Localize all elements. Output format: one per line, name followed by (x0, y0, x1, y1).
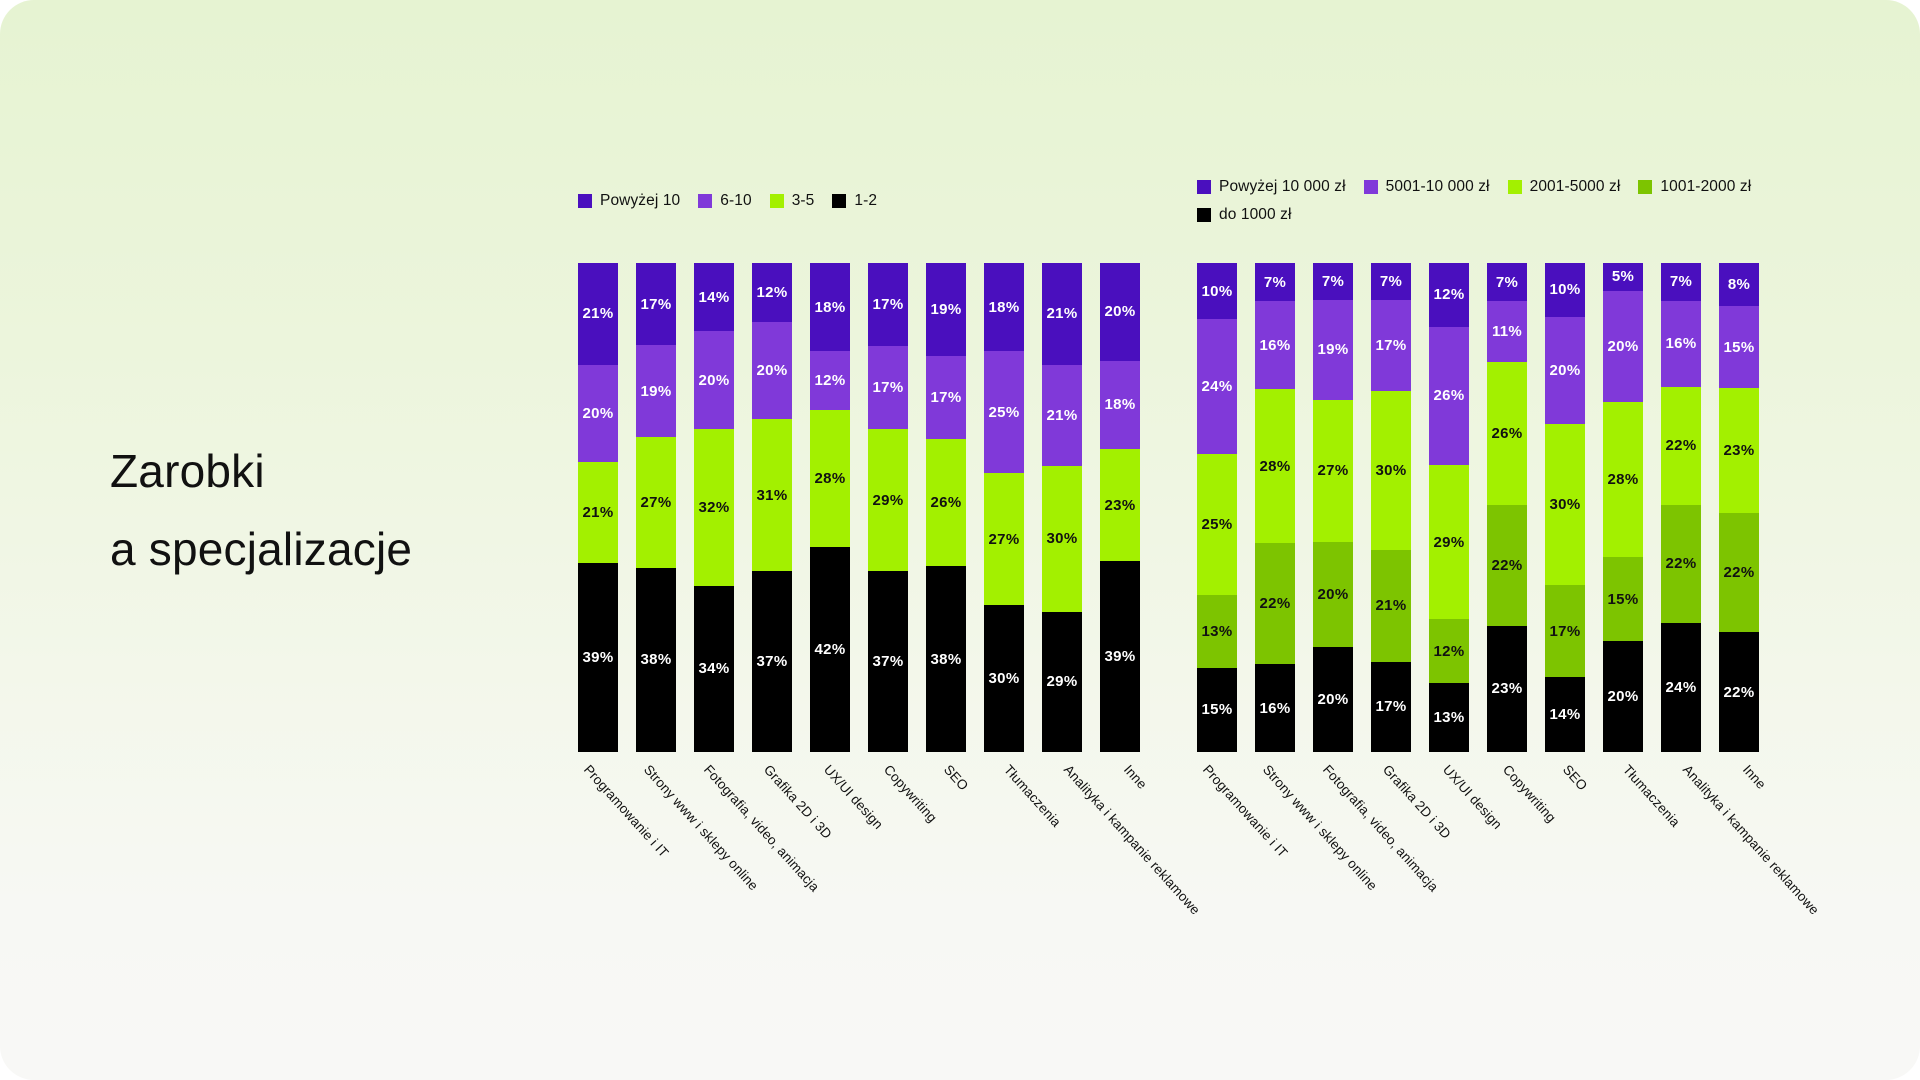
bar-segment[interactable]: 10% (1197, 263, 1237, 319)
bar-segment[interactable]: 7% (1371, 263, 1411, 300)
earnings-bar-column[interactable]: 7%17%30%21%17% (1371, 263, 1411, 752)
bar-segment-value-label: 13% (1202, 624, 1233, 639)
bar-segment-value-label: 7% (1670, 274, 1692, 289)
bar-segment[interactable]: 30% (1545, 424, 1585, 585)
legend-swatch-icon (770, 194, 784, 208)
bar-segment[interactable]: 12% (1429, 619, 1469, 683)
bar-segment-value-label: 11% (1492, 324, 1522, 339)
bar-segment[interactable]: 13% (1429, 683, 1469, 752)
bar-segment-value-label: 18% (815, 300, 846, 315)
bar-segment-value-label: 24% (1202, 379, 1233, 394)
earnings-bar-column[interactable]: 12%26%29%12%13% (1429, 263, 1469, 752)
earnings-legend-item[interactable]: 5001-10 000 zł (1364, 178, 1490, 196)
legend-swatch-icon (1364, 180, 1378, 194)
bar-segment[interactable]: 38% (636, 568, 676, 752)
bar-segment-value-label: 17% (1376, 699, 1407, 714)
bar-segment[interactable]: 20% (578, 365, 618, 462)
bar-segment[interactable]: 28% (1603, 402, 1643, 558)
bar-segment[interactable]: 20% (1100, 263, 1140, 361)
legend-label: 3-5 (792, 192, 815, 210)
bar-segment-value-label: 25% (1202, 517, 1233, 532)
bar-stack: 18%25%27%30% (984, 263, 1024, 752)
bar-segment[interactable]: 29% (868, 429, 908, 571)
bar-segment-value-label: 20% (1608, 689, 1639, 704)
earnings-category-label: Fotografia, video, animacja (1320, 762, 1441, 895)
experience-bar-column[interactable]: 21%21%30%29% (1042, 263, 1082, 752)
earnings-bar-column[interactable]: 8%15%23%22%22% (1719, 263, 1759, 752)
chart-earnings-category-axis: Programowanie i ITStrony www i sklepy on… (1197, 762, 1759, 992)
bar-segment[interactable]: 16% (1661, 301, 1701, 387)
bar-segment-value-label: 29% (1047, 674, 1078, 689)
bar-segment[interactable]: 19% (926, 263, 966, 356)
legend-swatch-icon (1508, 180, 1522, 194)
experience-bar-column[interactable]: 12%20%31%37% (752, 263, 792, 752)
bar-segment[interactable]: 17% (1371, 662, 1411, 752)
bar-segment-value-label: 22% (1724, 685, 1755, 700)
legend-label: 2001-5000 zł (1530, 178, 1621, 196)
bar-segment[interactable]: 24% (1197, 319, 1237, 454)
legend-label: 6-10 (720, 192, 751, 210)
bar-segment-value-label: 15% (1724, 340, 1755, 355)
chart-experience-category-axis: Programowanie i ITStrony www i sklepy on… (578, 762, 1140, 992)
bar-segment-value-label: 26% (931, 495, 962, 510)
bar-segment[interactable]: 13% (1197, 595, 1237, 668)
bar-segment[interactable]: 20% (694, 331, 734, 429)
bar-segment[interactable]: 38% (926, 566, 966, 752)
earnings-legend-item[interactable]: do 1000 zł (1197, 206, 1292, 224)
bar-segment[interactable]: 22% (1661, 505, 1701, 623)
legend-label: Powyżej 10 (600, 192, 680, 210)
bar-stack: 17%19%27%38% (636, 263, 676, 752)
bar-segment-value-label: 17% (641, 297, 672, 312)
chart-experience-plot: 21%20%21%39%17%19%27%38%14%20%32%34%12%2… (578, 263, 1140, 752)
experience-legend-item[interactable]: 1-2 (832, 192, 877, 210)
bar-segment-value-label: 20% (1318, 587, 1349, 602)
bar-segment[interactable]: 12% (1429, 263, 1469, 327)
earnings-legend-item[interactable]: 1001-2000 zł (1638, 178, 1751, 196)
bar-segment[interactable]: 5% (1603, 263, 1643, 291)
earnings-category-label: SEO (1560, 762, 1590, 793)
bar-segment-value-label: 23% (1724, 443, 1755, 458)
bar-segment-value-label: 12% (757, 285, 788, 300)
bar-segment-value-label: 31% (757, 488, 788, 503)
earnings-category-label: Copywriting (1500, 762, 1559, 825)
bar-segment[interactable]: 28% (1255, 389, 1295, 543)
bar-segment-value-label: 16% (1666, 336, 1697, 351)
bar-segment-value-label: 22% (1666, 438, 1697, 453)
bar-segment[interactable]: 21% (1371, 550, 1411, 662)
bar-stack: 7%17%30%21%17% (1371, 263, 1411, 752)
bar-stack: 14%20%32%34% (694, 263, 734, 752)
bar-segment-value-label: 21% (1376, 598, 1407, 613)
bar-segment[interactable]: 11% (1487, 301, 1527, 361)
bar-segment-value-label: 30% (989, 671, 1020, 686)
bar-segment-value-label: 22% (1666, 556, 1697, 571)
bar-segment-value-label: 12% (1434, 644, 1465, 659)
bar-segment[interactable]: 12% (752, 263, 792, 322)
bar-stack: 18%12%28%42% (810, 263, 850, 752)
bar-stack: 12%26%29%12%13% (1429, 263, 1469, 752)
bar-stack: 7%11%26%22%23% (1487, 263, 1527, 752)
experience-legend-item[interactable]: 3-5 (770, 192, 815, 210)
bar-segment[interactable]: 12% (810, 351, 850, 410)
bar-segment-value-label: 28% (1260, 459, 1291, 474)
bar-stack: 21%21%30%29% (1042, 263, 1082, 752)
experience-category-label: Tłumaczenia (1001, 762, 1064, 830)
bar-segment[interactable]: 23% (1100, 449, 1140, 561)
bar-stack: 7%19%27%20%20% (1313, 263, 1353, 752)
experience-category-label: SEO (941, 762, 971, 793)
bar-segment[interactable]: 20% (1545, 317, 1585, 424)
bar-segment-value-label: 18% (989, 300, 1020, 315)
bar-stack: 10%24%25%13%15% (1197, 263, 1237, 752)
bar-segment-value-label: 39% (1105, 649, 1136, 664)
bar-segment-value-label: 20% (1318, 692, 1349, 707)
bar-segment[interactable]: 23% (1487, 626, 1527, 752)
bar-segment[interactable]: 20% (1313, 542, 1353, 647)
bar-segment[interactable]: 7% (1661, 263, 1701, 301)
bar-segment[interactable]: 30% (1042, 466, 1082, 611)
bar-segment[interactable]: 18% (984, 263, 1024, 351)
experience-bar-column[interactable]: 18%12%28%42% (810, 263, 850, 752)
earnings-category-label: UX/UI design (1440, 762, 1505, 832)
bar-segment[interactable]: 30% (984, 605, 1024, 752)
earnings-bar-column[interactable]: 7%11%26%22%23% (1487, 263, 1527, 752)
earnings-category-label: Inne (1740, 762, 1769, 792)
bar-segment[interactable]: 21% (1042, 365, 1082, 467)
bar-segment-value-label: 25% (989, 405, 1020, 420)
bar-segment[interactable]: 20% (1603, 641, 1643, 752)
bar-stack: 5%20%28%15%20% (1603, 263, 1643, 752)
bar-segment-value-label: 27% (641, 495, 672, 510)
bar-segment-value-label: 32% (699, 500, 730, 515)
bar-segment[interactable]: 16% (1255, 664, 1295, 752)
bar-segment[interactable]: 18% (810, 263, 850, 351)
bar-segment[interactable]: 37% (752, 571, 792, 752)
bar-segment[interactable]: 20% (752, 322, 792, 420)
earnings-bar-column[interactable]: 10%24%25%13%15% (1197, 263, 1237, 752)
earnings-legend-item[interactable]: Powyżej 10 000 zł (1197, 178, 1346, 196)
experience-bar-column[interactable]: 17%19%27%38% (636, 263, 676, 752)
bar-segment[interactable]: 37% (868, 571, 908, 752)
bar-segment[interactable]: 19% (1313, 300, 1353, 400)
experience-legend-item[interactable]: Powyżej 10 (578, 192, 680, 210)
bar-segment-value-label: 26% (1434, 388, 1465, 403)
experience-bar-column[interactable]: 14%20%32%34% (694, 263, 734, 752)
bar-segment-value-label: 18% (1105, 397, 1136, 412)
bar-segment-value-label: 28% (1608, 472, 1639, 487)
bar-segment-value-label: 17% (873, 297, 904, 312)
bar-stack: 19%17%26%38% (926, 263, 966, 752)
bar-stack: 10%20%30%17%14% (1545, 263, 1585, 752)
bar-segment-value-label: 20% (583, 406, 614, 421)
bar-segment[interactable]: 21% (578, 462, 618, 564)
bar-segment[interactable]: 22% (1719, 513, 1759, 633)
bar-segment-value-label: 19% (931, 302, 962, 317)
bar-segment[interactable]: 17% (926, 356, 966, 439)
bar-segment-value-label: 29% (873, 493, 904, 508)
earnings-bar-column[interactable]: 10%20%30%17%14% (1545, 263, 1585, 752)
bar-segment-value-label: 37% (873, 654, 904, 669)
bar-segment-value-label: 8% (1728, 277, 1750, 292)
bar-segment[interactable]: 42% (810, 547, 850, 752)
bar-segment[interactable]: 21% (1042, 263, 1082, 365)
bar-segment[interactable]: 26% (926, 439, 966, 566)
bar-segment[interactable]: 25% (984, 351, 1024, 473)
bar-segment[interactable]: 27% (636, 437, 676, 568)
page-title: Zarobki a specjalizacje (110, 432, 540, 588)
bar-segment[interactable]: 10% (1545, 263, 1585, 317)
bar-segment-value-label: 21% (583, 505, 614, 520)
bar-segment[interactable]: 15% (1719, 306, 1759, 387)
earnings-bar-column[interactable]: 7%16%28%22%16% (1255, 263, 1295, 752)
experience-bar-column[interactable]: 20%18%23%39% (1100, 263, 1140, 752)
earnings-bar-column[interactable]: 7%16%22%22%24% (1661, 263, 1701, 752)
experience-category-label: UX/UI design (821, 762, 886, 832)
bar-segment[interactable]: 22% (1719, 632, 1759, 752)
bar-segment-value-label: 16% (1260, 338, 1291, 353)
bar-segment-value-label: 27% (1318, 463, 1349, 478)
experience-bar-column[interactable]: 21%20%21%39% (578, 263, 618, 752)
bar-segment-value-label: 17% (931, 390, 962, 405)
bar-segment-value-label: 30% (1047, 531, 1078, 546)
earnings-bar-column[interactable]: 7%19%27%20%20% (1313, 263, 1353, 752)
bar-segment[interactable]: 32% (694, 429, 734, 585)
legend-swatch-icon (1197, 208, 1211, 222)
bar-segment[interactable]: 27% (1313, 400, 1353, 542)
bar-segment-value-label: 17% (1376, 338, 1407, 353)
bar-segment[interactable]: 26% (1429, 327, 1469, 465)
bar-stack: 7%16%22%22%24% (1661, 263, 1701, 752)
legend-label: Powyżej 10 000 zł (1219, 178, 1346, 196)
legend-label: 5001-10 000 zł (1386, 178, 1490, 196)
bar-stack: 7%16%28%22%16% (1255, 263, 1295, 752)
bar-segment[interactable]: 14% (694, 263, 734, 331)
legend-earnings: Powyżej 10 000 zł5001-10 000 zł2001-5000… (1197, 178, 1797, 234)
bar-segment-value-label: 14% (699, 290, 730, 305)
legend-swatch-icon (1638, 180, 1652, 194)
bar-stack: 12%20%31%37% (752, 263, 792, 752)
bar-segment-value-label: 20% (757, 363, 788, 378)
bar-segment[interactable]: 19% (636, 345, 676, 437)
legend-swatch-icon (832, 194, 846, 208)
bar-stack: 8%15%23%22%22% (1719, 263, 1759, 752)
bar-segment-value-label: 22% (1492, 558, 1523, 573)
experience-bar-column[interactable]: 17%17%29%37% (868, 263, 908, 752)
experience-bar-column[interactable]: 18%25%27%30% (984, 263, 1024, 752)
bar-segment-value-label: 21% (583, 306, 614, 321)
bar-segment[interactable]: 16% (1255, 301, 1295, 389)
legend-swatch-icon (1197, 180, 1211, 194)
bar-segment-value-label: 24% (1666, 680, 1697, 695)
bar-segment-value-label: 15% (1608, 592, 1639, 607)
experience-category-label: Fotografia, video, animacja (701, 762, 822, 895)
bar-segment-value-label: 22% (1260, 596, 1291, 611)
bar-segment[interactable]: 31% (752, 419, 792, 571)
bar-segment[interactable]: 17% (1371, 300, 1411, 390)
bar-stack: 17%17%29%37% (868, 263, 908, 752)
legend-label: 1-2 (854, 192, 877, 210)
bar-segment-value-label: 19% (1318, 342, 1349, 357)
bar-segment-value-label: 26% (1492, 426, 1523, 441)
bar-segment-value-label: 23% (1492, 681, 1523, 696)
experience-category-label: Strony www i sklepy online (641, 762, 761, 893)
bar-segment[interactable]: 15% (1603, 557, 1643, 640)
bar-segment[interactable]: 20% (1313, 647, 1353, 752)
bar-segment[interactable]: 7% (1487, 263, 1527, 301)
bar-segment[interactable]: 24% (1661, 623, 1701, 752)
experience-bar-column[interactable]: 19%17%26%38% (926, 263, 966, 752)
legend-experience: Powyżej 106-103-51-2 (578, 192, 998, 220)
experience-category-label: Copywriting (881, 762, 940, 825)
bar-segment[interactable]: 39% (578, 563, 618, 752)
bar-segment-value-label: 34% (699, 661, 730, 676)
bar-segment-value-label: 20% (1105, 304, 1136, 319)
bar-stack: 21%20%21%39% (578, 263, 618, 752)
bar-segment-value-label: 38% (641, 652, 672, 667)
bar-segment-value-label: 21% (1047, 306, 1078, 321)
earnings-category-label: Strony www i sklepy online (1260, 762, 1380, 893)
bar-segment-value-label: 14% (1550, 707, 1581, 722)
bar-stack: 20%18%23%39% (1100, 263, 1140, 752)
page-title-line-2: a specjalizacje (110, 510, 540, 588)
bar-segment[interactable]: 20% (1603, 291, 1643, 402)
bar-segment[interactable]: 28% (810, 410, 850, 547)
bar-segment-value-label: 39% (583, 650, 614, 665)
experience-category-label: Inne (1121, 762, 1150, 792)
bar-segment[interactable]: 25% (1197, 454, 1237, 595)
bar-segment-value-label: 28% (815, 471, 846, 486)
page-title-line-1: Zarobki (110, 432, 540, 510)
bar-segment-value-label: 17% (1550, 624, 1581, 639)
bar-segment-value-label: 23% (1105, 498, 1136, 513)
bar-segment[interactable]: 22% (1487, 505, 1527, 626)
bar-segment-value-label: 21% (1047, 408, 1078, 423)
bar-segment-value-label: 7% (1264, 275, 1286, 290)
bar-segment[interactable]: 18% (1100, 361, 1140, 449)
bar-segment[interactable]: 21% (578, 263, 618, 365)
legend-label: 1001-2000 zł (1660, 178, 1751, 196)
bar-segment-value-label: 20% (1550, 363, 1581, 378)
bar-segment[interactable]: 14% (1545, 677, 1585, 752)
earnings-category-label: Tłumaczenia (1620, 762, 1683, 830)
bar-segment[interactable]: 17% (1545, 585, 1585, 676)
bar-segment-value-label: 10% (1550, 282, 1581, 297)
bar-segment-value-label: 20% (1608, 339, 1639, 354)
bar-segment-value-label: 30% (1550, 497, 1581, 512)
bar-segment-value-label: 19% (641, 384, 672, 399)
bar-segment-value-label: 27% (989, 532, 1020, 547)
bar-segment[interactable]: 39% (1100, 561, 1140, 752)
bar-segment-value-label: 30% (1376, 463, 1407, 478)
bar-segment[interactable]: 17% (868, 346, 908, 429)
bar-segment[interactable]: 8% (1719, 263, 1759, 306)
bar-segment-value-label: 38% (931, 652, 962, 667)
bar-segment-value-label: 10% (1202, 284, 1233, 299)
bar-segment[interactable]: 29% (1042, 612, 1082, 752)
bar-segment[interactable]: 7% (1313, 263, 1353, 300)
bar-segment[interactable]: 30% (1371, 391, 1411, 550)
bar-segment[interactable]: 34% (694, 586, 734, 752)
bar-segment-value-label: 16% (1260, 701, 1291, 716)
bar-segment[interactable]: 22% (1255, 543, 1295, 664)
experience-legend-item[interactable]: 6-10 (698, 192, 751, 210)
bar-segment[interactable]: 29% (1429, 465, 1469, 619)
bar-segment-value-label: 20% (699, 373, 730, 388)
bar-segment[interactable]: 26% (1487, 362, 1527, 505)
bar-segment[interactable]: 7% (1255, 263, 1295, 301)
bar-segment-value-label: 7% (1496, 275, 1518, 290)
bar-segment-value-label: 12% (815, 373, 846, 388)
bar-segment-value-label: 29% (1434, 535, 1465, 550)
earnings-bar-column[interactable]: 5%20%28%15%20% (1603, 263, 1643, 752)
bar-segment[interactable]: 23% (1719, 388, 1759, 513)
bar-segment-value-label: 15% (1202, 702, 1233, 717)
bar-segment-value-label: 17% (873, 380, 904, 395)
infographic-canvas: Zarobki a specjalizacje Powyżej 106-103-… (0, 0, 1920, 1080)
legend-label: do 1000 zł (1219, 206, 1292, 224)
bar-segment-value-label: 12% (1434, 287, 1465, 302)
bar-segment-value-label: 42% (815, 642, 846, 657)
bar-segment-value-label: 5% (1612, 269, 1634, 284)
bar-segment[interactable]: 17% (636, 263, 676, 345)
bar-segment-value-label: 7% (1322, 274, 1344, 289)
bar-segment[interactable]: 15% (1197, 668, 1237, 752)
bar-segment-value-label: 13% (1434, 710, 1465, 725)
bar-segment[interactable]: 17% (868, 263, 908, 346)
bar-segment-value-label: 22% (1724, 565, 1755, 580)
bar-segment-value-label: 37% (757, 654, 788, 669)
bar-segment-value-label: 7% (1380, 274, 1402, 289)
legend-swatch-icon (578, 194, 592, 208)
bar-segment[interactable]: 22% (1661, 387, 1701, 505)
chart-earnings-plot: 10%24%25%13%15%7%16%28%22%16%7%19%27%20%… (1197, 263, 1759, 752)
bar-segment[interactable]: 27% (984, 473, 1024, 605)
earnings-legend-item[interactable]: 2001-5000 zł (1508, 178, 1621, 196)
legend-swatch-icon (698, 194, 712, 208)
